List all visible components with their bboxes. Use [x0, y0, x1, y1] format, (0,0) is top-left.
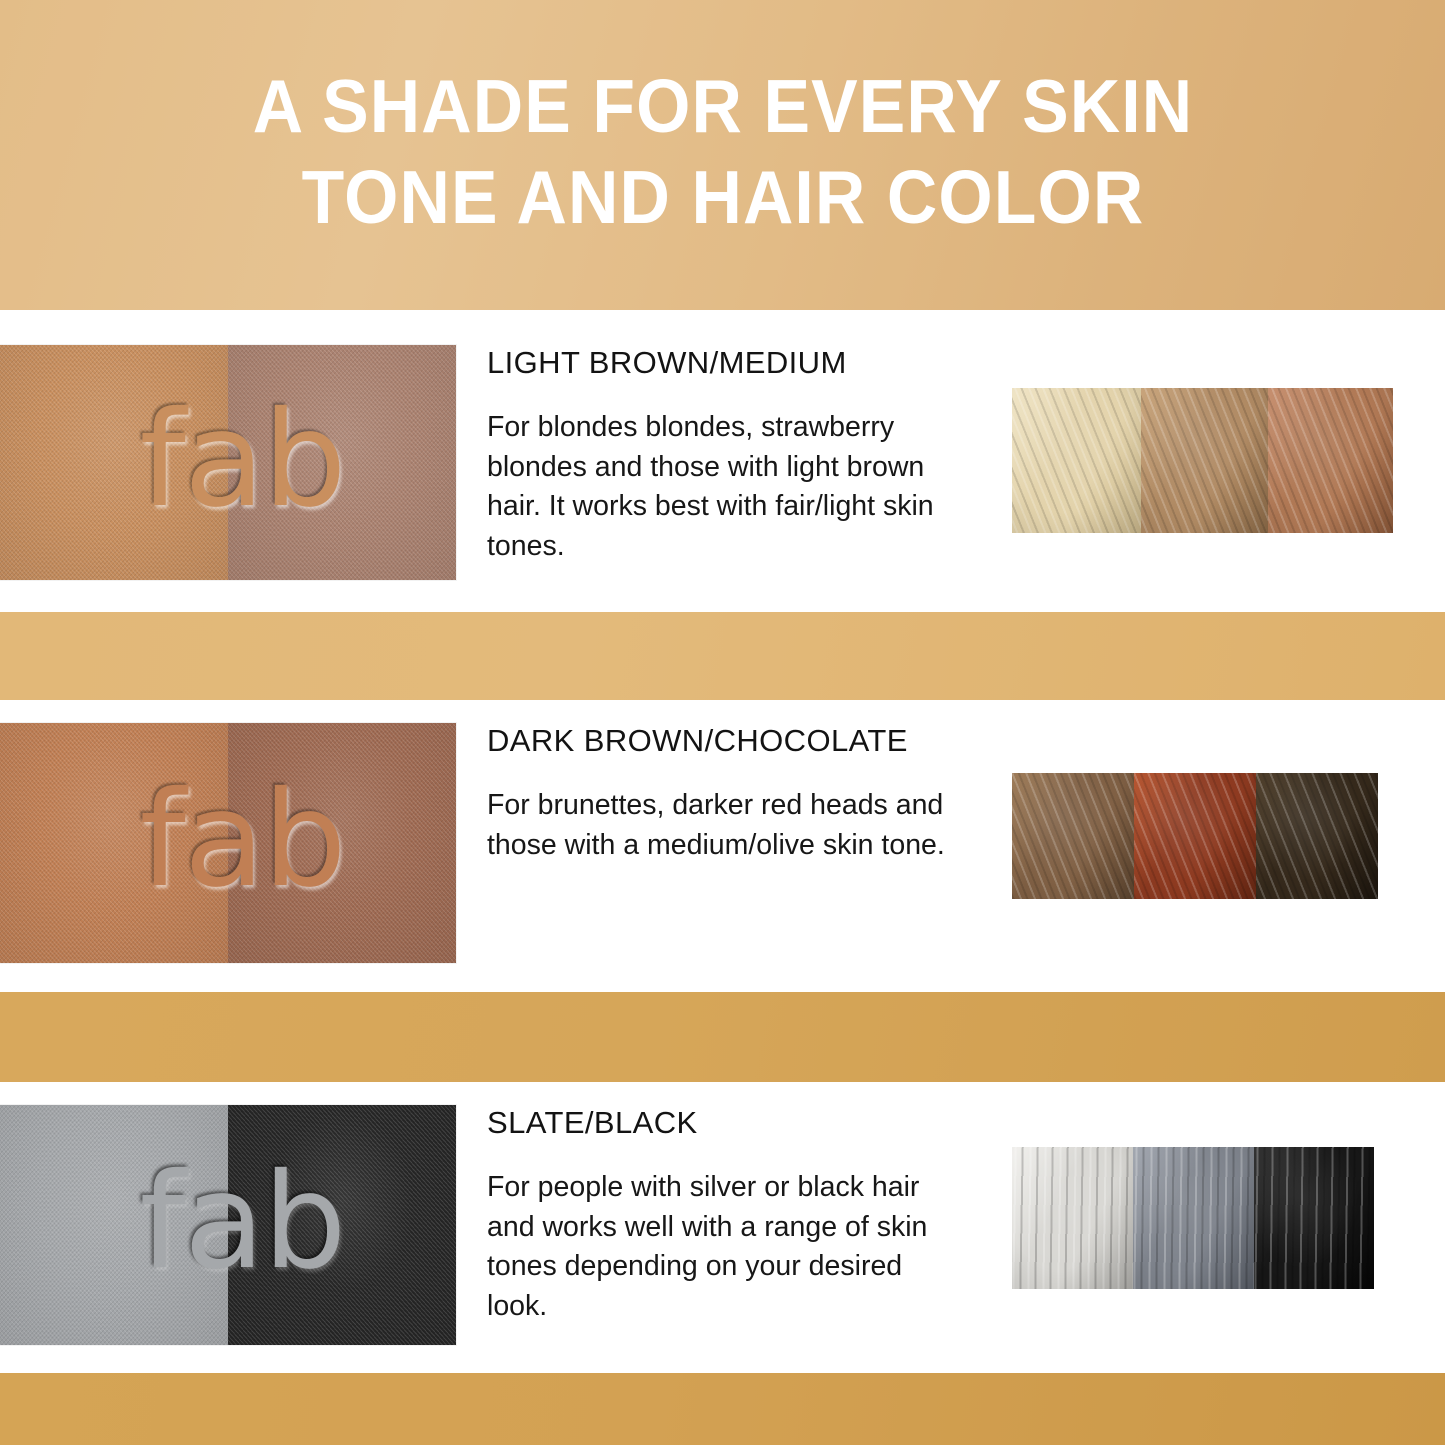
hair-swatch-steel-grey — [1133, 1147, 1254, 1289]
pan-half-right — [228, 1105, 456, 1345]
hair-swatch-strip-light — [1012, 388, 1393, 533]
hair-swatch-silver-white — [1012, 1147, 1133, 1289]
pan-half-left — [0, 723, 228, 963]
divider-band-1 — [0, 612, 1445, 700]
hair-swatch-medium-ash-brown — [1012, 773, 1134, 899]
shade-row-light-brown-medium: fab LIGHT BROWN/MEDIUM For blondes blond… — [0, 345, 1445, 580]
hair-swatch-strip-slate — [1012, 1147, 1374, 1289]
shade-title: LIGHT BROWN/MEDIUM — [487, 345, 977, 381]
shade-copy-light-brown-medium: LIGHT BROWN/MEDIUM For blondes blondes, … — [487, 345, 977, 566]
hair-swatch-auburn-red — [1134, 773, 1256, 899]
shade-copy-dark-brown-chocolate: DARK BROWN/CHOCOLATE For brunettes, dark… — [487, 723, 977, 865]
infographic-page: A SHADE FOR EVERY SKIN TONE AND HAIR COL… — [0, 0, 1445, 1445]
hair-swatch-strip-dark — [1012, 773, 1378, 899]
page-title-line-2: TONE AND HAIR COLOR — [137, 152, 1309, 244]
page-title-line-1: A SHADE FOR EVERY SKIN — [137, 61, 1309, 153]
shade-description: For blondes blondes, strawberry blondes … — [487, 408, 967, 566]
shade-title: DARK BROWN/CHOCOLATE — [487, 723, 977, 759]
hair-swatch-golden-light-brown — [1141, 388, 1268, 533]
shade-title: SLATE/BLACK — [487, 1105, 977, 1141]
hair-swatch-strawberry-copper — [1268, 388, 1393, 533]
divider-band-2 — [0, 992, 1445, 1082]
hair-swatch-black — [1254, 1147, 1374, 1289]
pan-half-right — [228, 345, 456, 580]
shade-row-dark-brown-chocolate: fab DARK BROWN/CHOCOLATE For brunettes, … — [0, 723, 1445, 963]
pan-half-left — [0, 345, 228, 580]
page-title: A SHADE FOR EVERY SKIN TONE AND HAIR COL… — [137, 61, 1309, 250]
hair-swatch-pale-blonde — [1012, 388, 1141, 533]
shade-copy-slate-black: SLATE/BLACK For people with silver or bl… — [487, 1105, 977, 1326]
hair-swatch-dark-brown — [1256, 773, 1378, 899]
powder-pan-dark-brown-chocolate: fab — [0, 723, 456, 963]
shade-description: For people with silver or black hair and… — [487, 1168, 967, 1326]
header-banner: A SHADE FOR EVERY SKIN TONE AND HAIR COL… — [0, 0, 1445, 310]
pan-half-left — [0, 1105, 228, 1345]
powder-pan-light-brown-medium: fab — [0, 345, 456, 580]
shade-description: For brunettes, darker red heads and thos… — [487, 786, 967, 865]
shade-row-slate-black: fab SLATE/BLACK For people with silver o… — [0, 1105, 1445, 1345]
footer-band — [0, 1373, 1445, 1445]
pan-half-right — [228, 723, 456, 963]
powder-pan-slate-black: fab — [0, 1105, 456, 1345]
